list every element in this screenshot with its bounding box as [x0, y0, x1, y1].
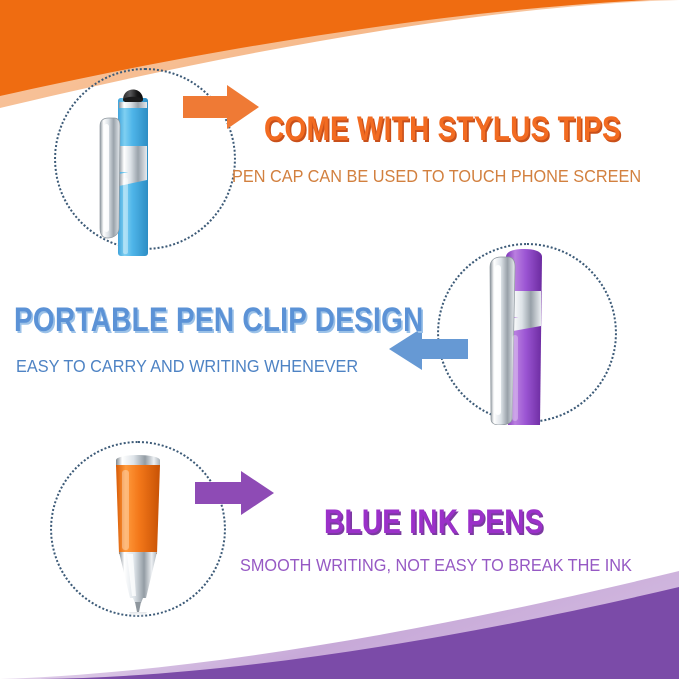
feature-subline-ink: SMOOTH WRITING, NOT EASY TO BREAK THE IN…	[240, 557, 632, 575]
feature-subline-wrap-ink: SMOOTH WRITING, NOT EASY TO BREAK THE IN…	[240, 557, 661, 575]
product-feature-infographic: COME WITH STYLUS TIPS PEN CAP CAN BE USE…	[0, 0, 679, 679]
feature-subline-wrap-stylus: PEN CAP CAN BE USED TO TOUCH PHONE SCREE…	[232, 168, 672, 186]
feature-pen-clip: PORTABLE PEN CLIP DESIGN	[14, 303, 514, 337]
feature-subline-wrap-clip: EASY TO CARRY AND WRITING WHENEVER	[16, 358, 384, 376]
feature-headline-stylus: COME WITH STYLUS TIPS	[264, 112, 621, 146]
feature-subline-clip: EASY TO CARRY AND WRITING WHENEVER	[16, 358, 358, 376]
arrow-right-purple	[193, 468, 277, 518]
feature-headline-clip: PORTABLE PEN CLIP DESIGN	[14, 303, 424, 337]
orange-pen-writing-tip	[105, 448, 171, 618]
feature-subline-stylus: PEN CAP CAN BE USED TO TOUCH PHONE SCREE…	[232, 168, 641, 186]
feature-stylus-tips: COME WITH STYLUS TIPS	[264, 112, 679, 146]
arrow-right-orange	[181, 82, 261, 132]
feature-blue-ink: BLUE INK PENS	[324, 505, 592, 539]
blue-pen-stylus-cap	[92, 78, 172, 258]
feature-headline-ink: BLUE INK PENS	[324, 505, 544, 539]
